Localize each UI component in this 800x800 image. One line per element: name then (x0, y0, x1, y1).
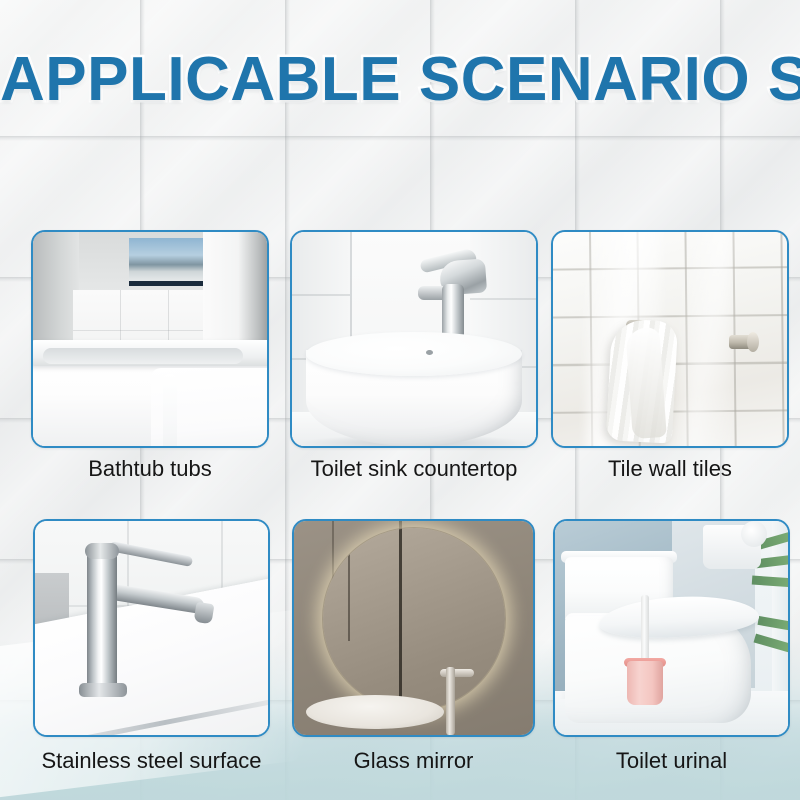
poster: APPLICABLE SCENARIO SCOPE (0, 0, 800, 800)
bathtub-inner-basin (43, 348, 243, 364)
vessel-basin-rim (306, 332, 522, 376)
caption-bathtub: Bathtub tubs (31, 456, 269, 484)
panel-bathtub[interactable] (31, 230, 269, 448)
panel-wall-tiles[interactable] (551, 230, 789, 448)
caption-sink-countertop: Toilet sink countertop (290, 456, 538, 484)
caption-glass-mirror: Glass mirror (292, 748, 535, 776)
towel-hook-icon (729, 335, 755, 349)
panel-toilet-urinal[interactable] (553, 519, 790, 737)
bathtub-photo (33, 232, 267, 446)
leaf (754, 634, 788, 654)
scenario-grid: Bathtub tubs Toilet sink countertop (0, 0, 800, 800)
toilet-brush-holder (627, 661, 663, 705)
faucet-base (79, 683, 127, 697)
basin-bowl (306, 695, 444, 729)
panel-stainless-steel[interactable] (33, 519, 270, 737)
toilet-paper-roll-end (741, 521, 767, 547)
bathtub-gloss-highlight (163, 374, 177, 446)
faucet-column-body (87, 551, 117, 691)
tile-sheen-highlight (684, 230, 731, 448)
caption-toilet-urinal: Toilet urinal (553, 748, 790, 776)
leaf (757, 616, 788, 631)
round-mirror-disc (323, 528, 505, 710)
sink-countertop-photo (292, 232, 536, 446)
leaf (752, 576, 788, 588)
panel-sink-countertop[interactable] (290, 230, 538, 448)
panel-glass-mirror[interactable] (292, 519, 535, 737)
caption-stainless-steel: Stainless steel surface (33, 748, 270, 776)
toilet-brush-handle (641, 595, 649, 663)
stainless-steel-photo (35, 521, 268, 735)
overflow-hole-icon (426, 350, 433, 355)
faucet-top-cap (85, 543, 119, 559)
page-title: APPLICABLE SCENARIO SCOPE (0, 48, 800, 112)
caption-wall-tiles: Tile wall tiles (551, 456, 789, 484)
toilet-urinal-photo (555, 521, 788, 735)
glass-mirror-photo (294, 521, 533, 735)
faucet-column-body (446, 667, 455, 735)
